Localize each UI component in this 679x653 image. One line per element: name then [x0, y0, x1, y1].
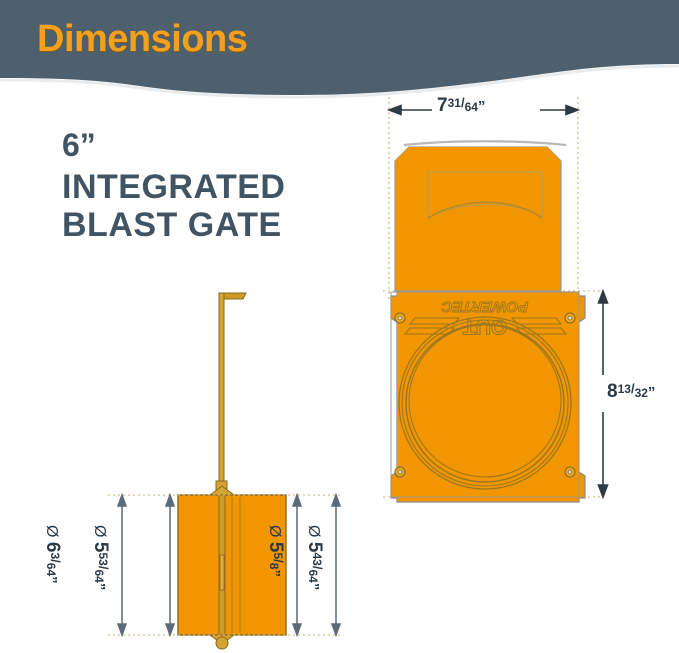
- height-whole: 8: [607, 381, 618, 402]
- dimension-label-diameter-2: Ø 553/64”: [91, 525, 110, 590]
- width-whole: 7: [437, 95, 448, 116]
- d2-whole: 5: [90, 542, 111, 553]
- brand-emboss: POWERTEC: [441, 298, 529, 315]
- d4-denominator: 64: [306, 569, 320, 582]
- d3-symbol: Ø: [266, 525, 283, 537]
- out-emboss: OUT: [463, 315, 508, 338]
- d2-unit: ”: [91, 583, 108, 591]
- d4-symbol: Ø: [305, 525, 322, 537]
- dimension-label-diameter-3: Ø 55/8”: [266, 525, 285, 577]
- dimensions-page: Dimensions 6” INTEGRATED BLAST GATE: [0, 0, 679, 653]
- width-denominator: 64: [465, 100, 478, 114]
- d4-numerator: 43: [310, 552, 324, 565]
- svg-text:POWERTEC: POWERTEC: [441, 298, 529, 315]
- height-unit: ”: [648, 384, 656, 401]
- height-numerator: 13: [618, 382, 631, 396]
- d2-numerator: 53: [96, 552, 110, 565]
- d1-whole: 6: [42, 542, 63, 553]
- dimension-label-height: 813/32”: [607, 382, 655, 401]
- d1-symbol: Ø: [43, 525, 60, 537]
- d3-unit: ”: [266, 569, 283, 577]
- gate-slide-plate: [395, 141, 566, 291]
- d4-unit: ”: [305, 583, 322, 591]
- d2-symbol: Ø: [91, 525, 108, 537]
- d1-denominator: 64: [44, 563, 58, 576]
- d1-unit: ”: [43, 576, 60, 584]
- dimension-label-diameter-1: Ø 63/64”: [43, 525, 62, 584]
- d4-whole: 5: [304, 542, 325, 553]
- width-numerator: 31: [448, 96, 461, 110]
- d3-denominator: 8: [267, 563, 281, 570]
- dimension-label-width: 731/64”: [437, 96, 485, 115]
- gate-handle: [216, 293, 246, 509]
- side-view: [108, 293, 340, 649]
- dimension-label-diameter-4: Ø 543/64”: [305, 525, 324, 590]
- blast-gate-housing: POWERTEC OUT: [391, 292, 585, 502]
- d2-denominator: 64: [92, 569, 106, 582]
- height-denominator: 32: [635, 386, 648, 400]
- svg-text:OUT: OUT: [463, 315, 508, 338]
- width-unit: ”: [478, 98, 486, 115]
- d3-whole: 5: [265, 542, 286, 553]
